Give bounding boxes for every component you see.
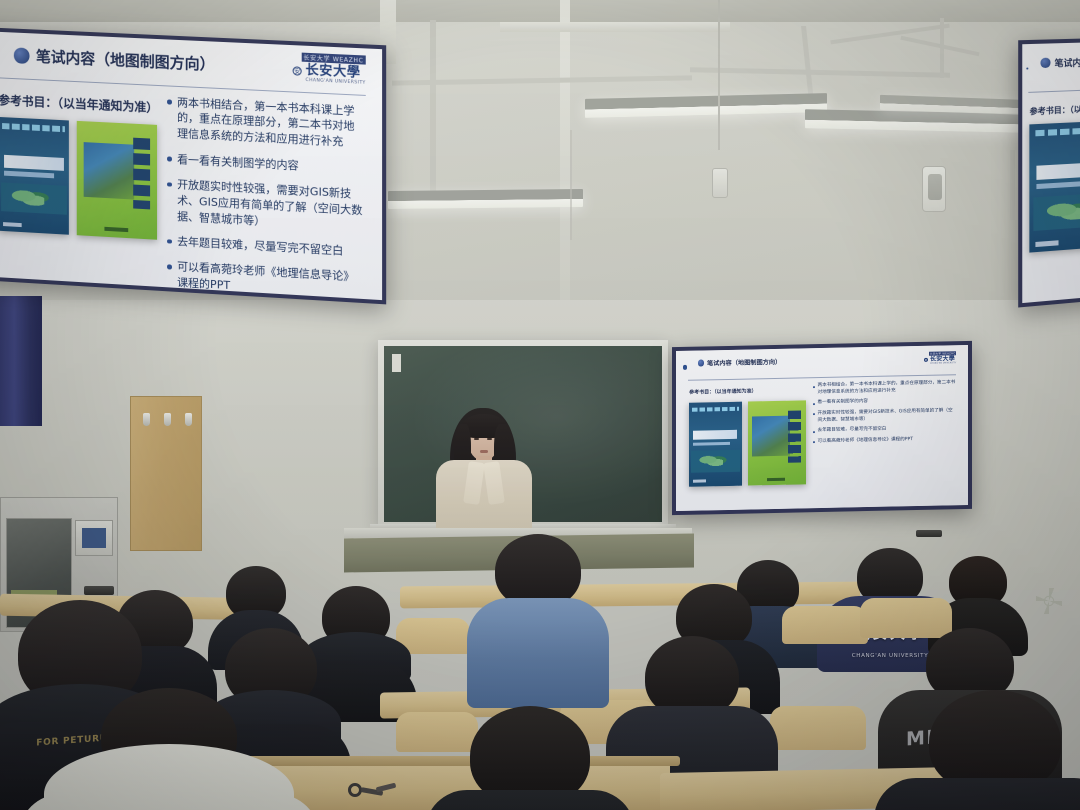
bullet-text: 看一看有关制图学的内容 (177, 152, 299, 174)
slide-reference-block: 参考书目：（以当年通知为准） (1030, 101, 1080, 252)
book-cover-gis (748, 401, 806, 486)
slide-bullet: 两本书相结合，第一本书本科课上学的，重点在原理部分，第二本书对地理信息系统的方法… (167, 94, 366, 152)
slide-title-dot (1041, 58, 1050, 68)
window-curtain (0, 296, 42, 426)
coat-hook-icon (143, 413, 150, 426)
slide-bullet-list: 两本书相结合，第一本书本科课上学的，重点在原理部分，第二本书对地理信息系统的方法… (813, 380, 956, 449)
projection-screen-center[interactable]: 笔试内容（地图制图方向） 长安大学 WEAZHC 安 长安大學 CHANG'AN… (672, 341, 972, 515)
header-divider (688, 374, 957, 381)
slide-bullet: 开放题实时性较强，需要对GIS新技术、GIS应用有简单的了解（空间大数据、智慧城… (813, 408, 956, 424)
audience-member-foreground (430, 706, 630, 810)
lecture-hall-photo: 笔试内容（地图制图方向） 长安大学 WEAZHC 安 长安大學 CHANG'AN… (0, 0, 1080, 810)
bullet-dot-icon (167, 239, 172, 244)
slide-bullet-list: 两本书相结合，第一本书本科课上学的，重点在原理部分，第二本书对地理信息系统的方法… (167, 94, 366, 300)
slide-bullet: 去年题目较难，尽量写完不留空白 (167, 233, 366, 260)
slide-reference-block: 参考书目：（以当年通知为准） (689, 387, 806, 487)
slide-title-text: 笔试内容（地图制图方向） (36, 46, 215, 75)
coat-rack (130, 396, 202, 551)
pendant-control (712, 168, 728, 198)
torso (874, 778, 1080, 810)
torso-light-hoodie (19, 794, 319, 810)
slide-bullet: 去年题目较难，尽量写完不留空白 (813, 425, 956, 435)
audience-member-foreground (880, 690, 1080, 810)
bullet-dot-icon (167, 100, 172, 105)
slide-header: 笔试内容（地图制图方向） 长安大学 WEAZHC 安 长安大學 CHANG'AN… (688, 353, 957, 383)
cabinet-control-panel[interactable] (75, 520, 113, 556)
slide-content-right: 笔试内容（地图制图方向） 参考书目：（以当年通知为准） (1022, 40, 1080, 303)
logo-word-en: CHANG'AN UNIVERSITY (930, 363, 956, 366)
bullet-dot-icon (813, 441, 815, 443)
reference-label: 参考书目：（以当年通知为准） (0, 91, 157, 116)
wall-air-outlet (916, 530, 942, 537)
bullet-text: 两本书相结合，第一本书本科课上学的，重点在原理部分，第二本书对地理信息系统的方法… (817, 380, 956, 396)
reference-label: 参考书目：（以当年通知为准） (1030, 101, 1080, 117)
university-logo: 长安大学 WEAZHC 安 长安大學 CHANG'AN UNIVERSITY (924, 354, 956, 366)
bullet-dot-icon (813, 386, 815, 388)
header-divider (1029, 86, 1080, 93)
coat-hook-icon (185, 413, 192, 426)
slide-title-dot (14, 47, 29, 63)
slide-title-dot (698, 360, 705, 367)
bullet-dot-icon (813, 414, 815, 416)
slide-bullet: 两本书相结合，第一本书本科课上学的，重点在原理部分，第二本书对地理信息系统的方法… (813, 380, 956, 396)
bullet-text: 可以看高菀玲老师《地理信息导论》课程的PPT (817, 437, 913, 446)
chair-back (770, 706, 866, 750)
book-cover-gis-principles (1030, 120, 1080, 253)
wall-ornament (1036, 588, 1062, 614)
book-cover-group (0, 117, 157, 240)
bullet-dot-icon (813, 403, 815, 405)
coat-hook-icon (164, 413, 171, 426)
keys-on-desk (348, 781, 404, 803)
slide-bullet: 看一看有关制图学的内容 (813, 398, 956, 408)
audience-member-foreground (24, 688, 314, 810)
university-seal-icon: 安 (924, 358, 928, 362)
wall-sensor-panel[interactable] (922, 166, 946, 212)
book-cover-gis (77, 121, 157, 240)
slide-bullet: 开放题实时性较强，需要对GIS新技术、GIS应用有简单的了解（空间大数据、智慧城… (167, 176, 366, 235)
reference-label: 参考书目：（以当年通知为准） (689, 387, 806, 396)
display-screen-left[interactable]: 笔试内容（地图制图方向） 长安大学 WEAZHC 安 长安大學 CHANG'AN… (0, 27, 386, 304)
slide-bullet: 看一看有关制图学的内容 (167, 151, 366, 177)
university-logo: 长安大学 WEAZHC 安 长安大學 CHANG'AN UNIVERSITY (293, 58, 366, 86)
bullet-dot-icon (167, 157, 172, 162)
bullet-text: 开放题实时性较强，需要对GIS新技术、GIS应用有简单的了解（空间大数据、智慧城… (817, 408, 956, 424)
book-cover-gis-principles (689, 402, 742, 487)
keyring-icon (348, 783, 362, 797)
university-seal-icon: 安 (293, 66, 302, 75)
slide-bullet: 可以看高菀玲老师《地理信息导论》课程的PPT (813, 436, 956, 446)
torso (425, 790, 635, 810)
bullet-text: 两本书相结合，第一本书本科课上学的，重点在原理部分，第二本书对地理信息系统的方法… (177, 94, 366, 151)
book-cover-gis-principles (0, 117, 69, 235)
slide-reference-block: 参考书目：（以当年通知为准） (0, 91, 157, 240)
torso-denim (467, 598, 609, 708)
slide-title-text: 笔试内容（地图制图方向） (707, 357, 781, 368)
slide-content-left: 笔试内容（地图制图方向） 长安大学 WEAZHC 安 长安大學 CHANG'AN… (0, 31, 382, 300)
head (495, 534, 581, 608)
slide-content-center: 笔试内容（地图制图方向） 长安大学 WEAZHC 安 长安大學 CHANG'AN… (676, 345, 968, 511)
audience-member (472, 534, 604, 694)
bullet-dot-icon (167, 264, 172, 269)
bullet-text: 去年题目较难，尽量写完不留空白 (177, 234, 343, 259)
book-cover-group (689, 401, 806, 487)
ceiling-light (585, 93, 827, 118)
slide-header: 笔试内容（地图制图方向） 长安大学 WEAZHC 安 长安大學 CHANG'AN… (0, 44, 366, 99)
chalk-holder (392, 354, 401, 372)
chair-back (782, 606, 868, 644)
bullet-text: 看一看有关制图学的内容 (817, 399, 868, 407)
book-cover-group (1030, 119, 1080, 253)
bullet-text: 开放题实时性较强，需要对GIS新技术、GIS应用有简单的了解（空间大数据、智慧城… (177, 177, 366, 235)
display-screen-right[interactable]: 笔试内容（地图制图方向） 参考书目：（以当年通知为准） (1018, 36, 1080, 308)
bullet-text: 去年题目较难，尽量写完不留空白 (817, 427, 886, 435)
ceiling-light (388, 189, 583, 209)
bullet-dot-icon (813, 431, 815, 433)
logo-pill-text: 长安大学 WEAZHC (929, 351, 956, 356)
slide-title-text: 笔试内容（地图制图方向） (1054, 53, 1080, 69)
bullet-dot-icon (167, 182, 172, 187)
slide-header: 笔试内容（地图制图方向） (1029, 52, 1080, 95)
presenter (432, 408, 536, 536)
